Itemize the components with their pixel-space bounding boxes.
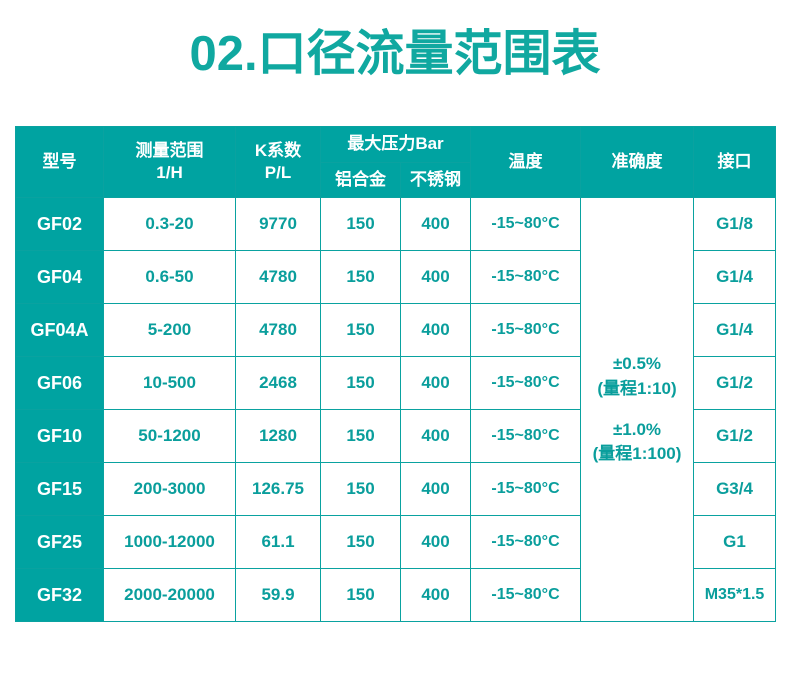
cell-pressure-aluminium: 150 (321, 516, 401, 569)
cell-model: GF32 (16, 569, 104, 622)
cell-k-factor: 4780 (236, 304, 321, 357)
cell-k-factor: 1280 (236, 410, 321, 463)
header-k-factor-line2: P/L (236, 162, 320, 184)
header-model: 型号 (16, 127, 104, 198)
header-pressure-aluminium-label: 铝合金 (321, 169, 400, 191)
header-temperature-label: 温度 (471, 151, 580, 173)
cell-pressure-aluminium: 150 (321, 198, 401, 251)
cell-pressure-stainless: 400 (401, 410, 471, 463)
accuracy-line-2: (量程1:10) (581, 377, 693, 402)
header-interface-label: 接口 (694, 151, 775, 173)
cell-measuring-range: 2000-20000 (104, 569, 236, 622)
cell-measuring-range: 200-3000 (104, 463, 236, 516)
spec-table-wrapper: 型号 测量范围 1/H K系数 P/L 最大压力Bar 温度 (15, 126, 775, 622)
cell-measuring-range: 5-200 (104, 304, 236, 357)
cell-pressure-stainless: 400 (401, 304, 471, 357)
cell-k-factor: 9770 (236, 198, 321, 251)
header-max-pressure-group: 最大压力Bar (321, 127, 471, 163)
cell-temperature: -15~80°C (471, 198, 581, 251)
header-measuring-range-line2: 1/H (104, 162, 235, 184)
cell-accuracy-merged: ±0.5% (量程1:10) ±1.0% (量程1:100) (581, 198, 694, 622)
cell-pressure-stainless: 400 (401, 569, 471, 622)
cell-model: GF02 (16, 198, 104, 251)
header-max-pressure-label: 最大压力Bar (321, 133, 470, 155)
page-root: 02.口径流量范围表 型号 测量范围 (0, 0, 790, 676)
cell-pressure-aluminium: 150 (321, 357, 401, 410)
cell-measuring-range: 50-1200 (104, 410, 236, 463)
spec-table: 型号 测量范围 1/H K系数 P/L 最大压力Bar 温度 (15, 126, 776, 622)
page-title-wrapper: 02.口径流量范围表 (0, 26, 790, 82)
header-pressure-aluminium: 铝合金 (321, 162, 401, 198)
cell-pressure-aluminium: 150 (321, 463, 401, 516)
cell-k-factor: 4780 (236, 251, 321, 304)
table-body: GF02 0.3-20 9770 150 400 -15~80°C ±0.5% … (16, 198, 776, 622)
cell-temperature: -15~80°C (471, 251, 581, 304)
cell-interface: G1/2 (694, 410, 776, 463)
cell-pressure-stainless: 400 (401, 251, 471, 304)
cell-interface: M35*1.5 (694, 569, 776, 622)
cell-temperature: -15~80°C (471, 357, 581, 410)
header-pressure-stainless: 不锈钢 (401, 162, 471, 198)
cell-pressure-aluminium: 150 (321, 251, 401, 304)
cell-k-factor: 59.9 (236, 569, 321, 622)
accuracy-line-4: (量程1:100) (581, 442, 693, 467)
cell-model: GF15 (16, 463, 104, 516)
header-row-primary: 型号 测量范围 1/H K系数 P/L 最大压力Bar 温度 (16, 127, 776, 163)
cell-interface: G1/4 (694, 304, 776, 357)
cell-measuring-range: 0.3-20 (104, 198, 236, 251)
header-k-factor: K系数 P/L (236, 127, 321, 198)
cell-measuring-range: 0.6-50 (104, 251, 236, 304)
page-title: 02.口径流量范围表 (189, 26, 600, 82)
cell-pressure-stainless: 400 (401, 357, 471, 410)
cell-interface: G1/8 (694, 198, 776, 251)
cell-temperature: -15~80°C (471, 569, 581, 622)
header-accuracy-label: 准确度 (581, 151, 693, 173)
cell-k-factor: 2468 (236, 357, 321, 410)
table-row: GF02 0.3-20 9770 150 400 -15~80°C ±0.5% … (16, 198, 776, 251)
cell-pressure-stainless: 400 (401, 198, 471, 251)
cell-pressure-aluminium: 150 (321, 304, 401, 357)
cell-model: GF04A (16, 304, 104, 357)
cell-interface: G1/2 (694, 357, 776, 410)
cell-model: GF04 (16, 251, 104, 304)
cell-temperature: -15~80°C (471, 463, 581, 516)
cell-pressure-stainless: 400 (401, 516, 471, 569)
header-model-label: 型号 (16, 151, 103, 173)
cell-measuring-range: 1000-12000 (104, 516, 236, 569)
header-measuring-range-line1: 测量范围 (104, 140, 235, 162)
cell-temperature: -15~80°C (471, 516, 581, 569)
cell-interface: G3/4 (694, 463, 776, 516)
cell-temperature: -15~80°C (471, 410, 581, 463)
cell-pressure-aluminium: 150 (321, 569, 401, 622)
cell-pressure-stainless: 400 (401, 463, 471, 516)
cell-interface: G1 (694, 516, 776, 569)
table-head: 型号 测量范围 1/H K系数 P/L 最大压力Bar 温度 (16, 127, 776, 198)
cell-model: GF10 (16, 410, 104, 463)
cell-temperature: -15~80°C (471, 304, 581, 357)
accuracy-spacer (581, 402, 693, 418)
accuracy-line-1: ±0.5% (581, 352, 693, 377)
header-k-factor-line1: K系数 (236, 140, 320, 162)
header-measuring-range: 测量范围 1/H (104, 127, 236, 198)
header-accuracy: 准确度 (581, 127, 694, 198)
cell-pressure-aluminium: 150 (321, 410, 401, 463)
header-pressure-stainless-label: 不锈钢 (401, 169, 470, 191)
cell-measuring-range: 10-500 (104, 357, 236, 410)
header-interface: 接口 (694, 127, 776, 198)
header-temperature: 温度 (471, 127, 581, 198)
cell-interface: G1/4 (694, 251, 776, 304)
cell-model: GF06 (16, 357, 104, 410)
cell-k-factor: 126.75 (236, 463, 321, 516)
cell-k-factor: 61.1 (236, 516, 321, 569)
accuracy-line-3: ±1.0% (581, 418, 693, 443)
cell-model: GF25 (16, 516, 104, 569)
